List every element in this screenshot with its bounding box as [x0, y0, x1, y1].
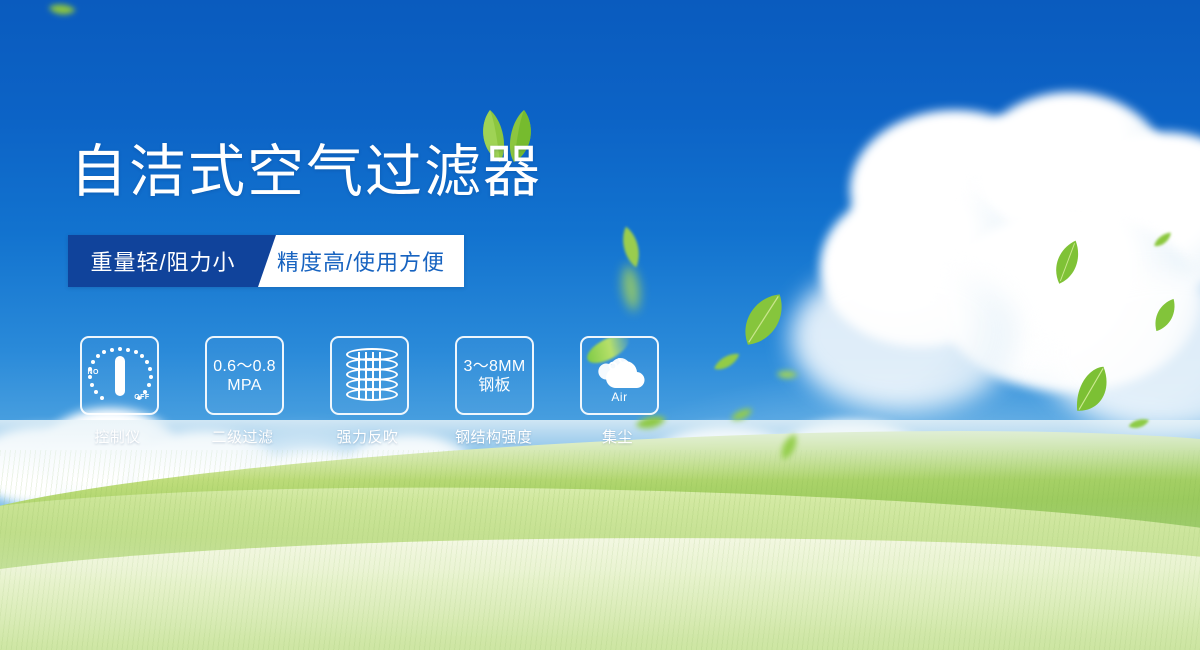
subtitle-left: 重量轻/阻力小 [68, 235, 258, 287]
subtitle-right: 精度高/使用方便 [258, 235, 464, 287]
leaf-icon [1145, 292, 1186, 338]
leaf-icon [1060, 360, 1127, 426]
steel-plate-text-icon: 3～8MM 钢板 [464, 357, 526, 395]
grass-meadow [0, 420, 1200, 650]
feature-icon-box: Air [580, 336, 659, 415]
feature-item-back-blow[interactable]: 强力反吹 [330, 336, 405, 447]
feature-icon-box: 0.6～0.8 MPA [205, 336, 284, 415]
leaf-icon [615, 260, 648, 315]
steel-line-1: 3～8MM [464, 357, 526, 376]
feature-item-two-stage-filter[interactable]: 0.6～0.8 MPA 二级过滤 [205, 336, 280, 447]
leaf-icon [47, 0, 78, 21]
air-badge-text: Air [589, 390, 651, 404]
feature-label: 集尘 [580, 426, 655, 447]
leaf-icon [775, 367, 799, 384]
feature-icon-box [330, 336, 409, 415]
feature-label: 二级过滤 [205, 426, 280, 447]
feature-item-dust-collection[interactable]: Air 集尘 [580, 336, 655, 447]
pressure-line-2: MPA [213, 376, 276, 395]
pressure-line-1: 0.6～0.8 [213, 357, 276, 376]
page-title: 自洁式空气过滤器 [70, 144, 542, 201]
pressure-text-icon: 0.6～0.8 MPA [213, 357, 276, 395]
feature-icon-box: 3～8MM 钢板 [455, 336, 534, 415]
feature-label: 钢结构强度 [455, 426, 530, 447]
promo-banner: 自洁式空气过滤器 重量轻/阻力小 精度高/使用方便 [0, 0, 1200, 650]
feature-list: NO OFF 控制仪 0.6～0.8 MPA 二级过滤 [80, 336, 655, 447]
feature-item-controller[interactable]: NO OFF 控制仪 [80, 336, 155, 447]
leaf-icon [1149, 227, 1176, 252]
leaf-icon [727, 280, 800, 357]
subtitle-badge: 重量轻/阻力小 精度高/使用方便 [68, 235, 464, 287]
feature-item-steel-strength[interactable]: 3～8MM 钢板 钢结构强度 [455, 336, 530, 447]
feature-icon-box: NO OFF [80, 336, 159, 415]
steel-line-2: 钢板 [464, 376, 526, 395]
air-cloud-icon: Air [589, 349, 651, 403]
leaf-icon [1044, 234, 1090, 290]
leaf-icon [615, 223, 647, 271]
leaf-icon [709, 347, 745, 377]
feature-label: 强力反吹 [330, 426, 405, 447]
gauge-no-label: NO [88, 369, 99, 376]
gauge-off-label: OFF [134, 394, 149, 401]
cloud-right-cumulus [820, 92, 1200, 422]
filter-coil-icon [346, 348, 394, 404]
gauge-dial-icon: NO OFF [88, 347, 152, 405]
feature-label: 控制仪 [80, 426, 155, 447]
